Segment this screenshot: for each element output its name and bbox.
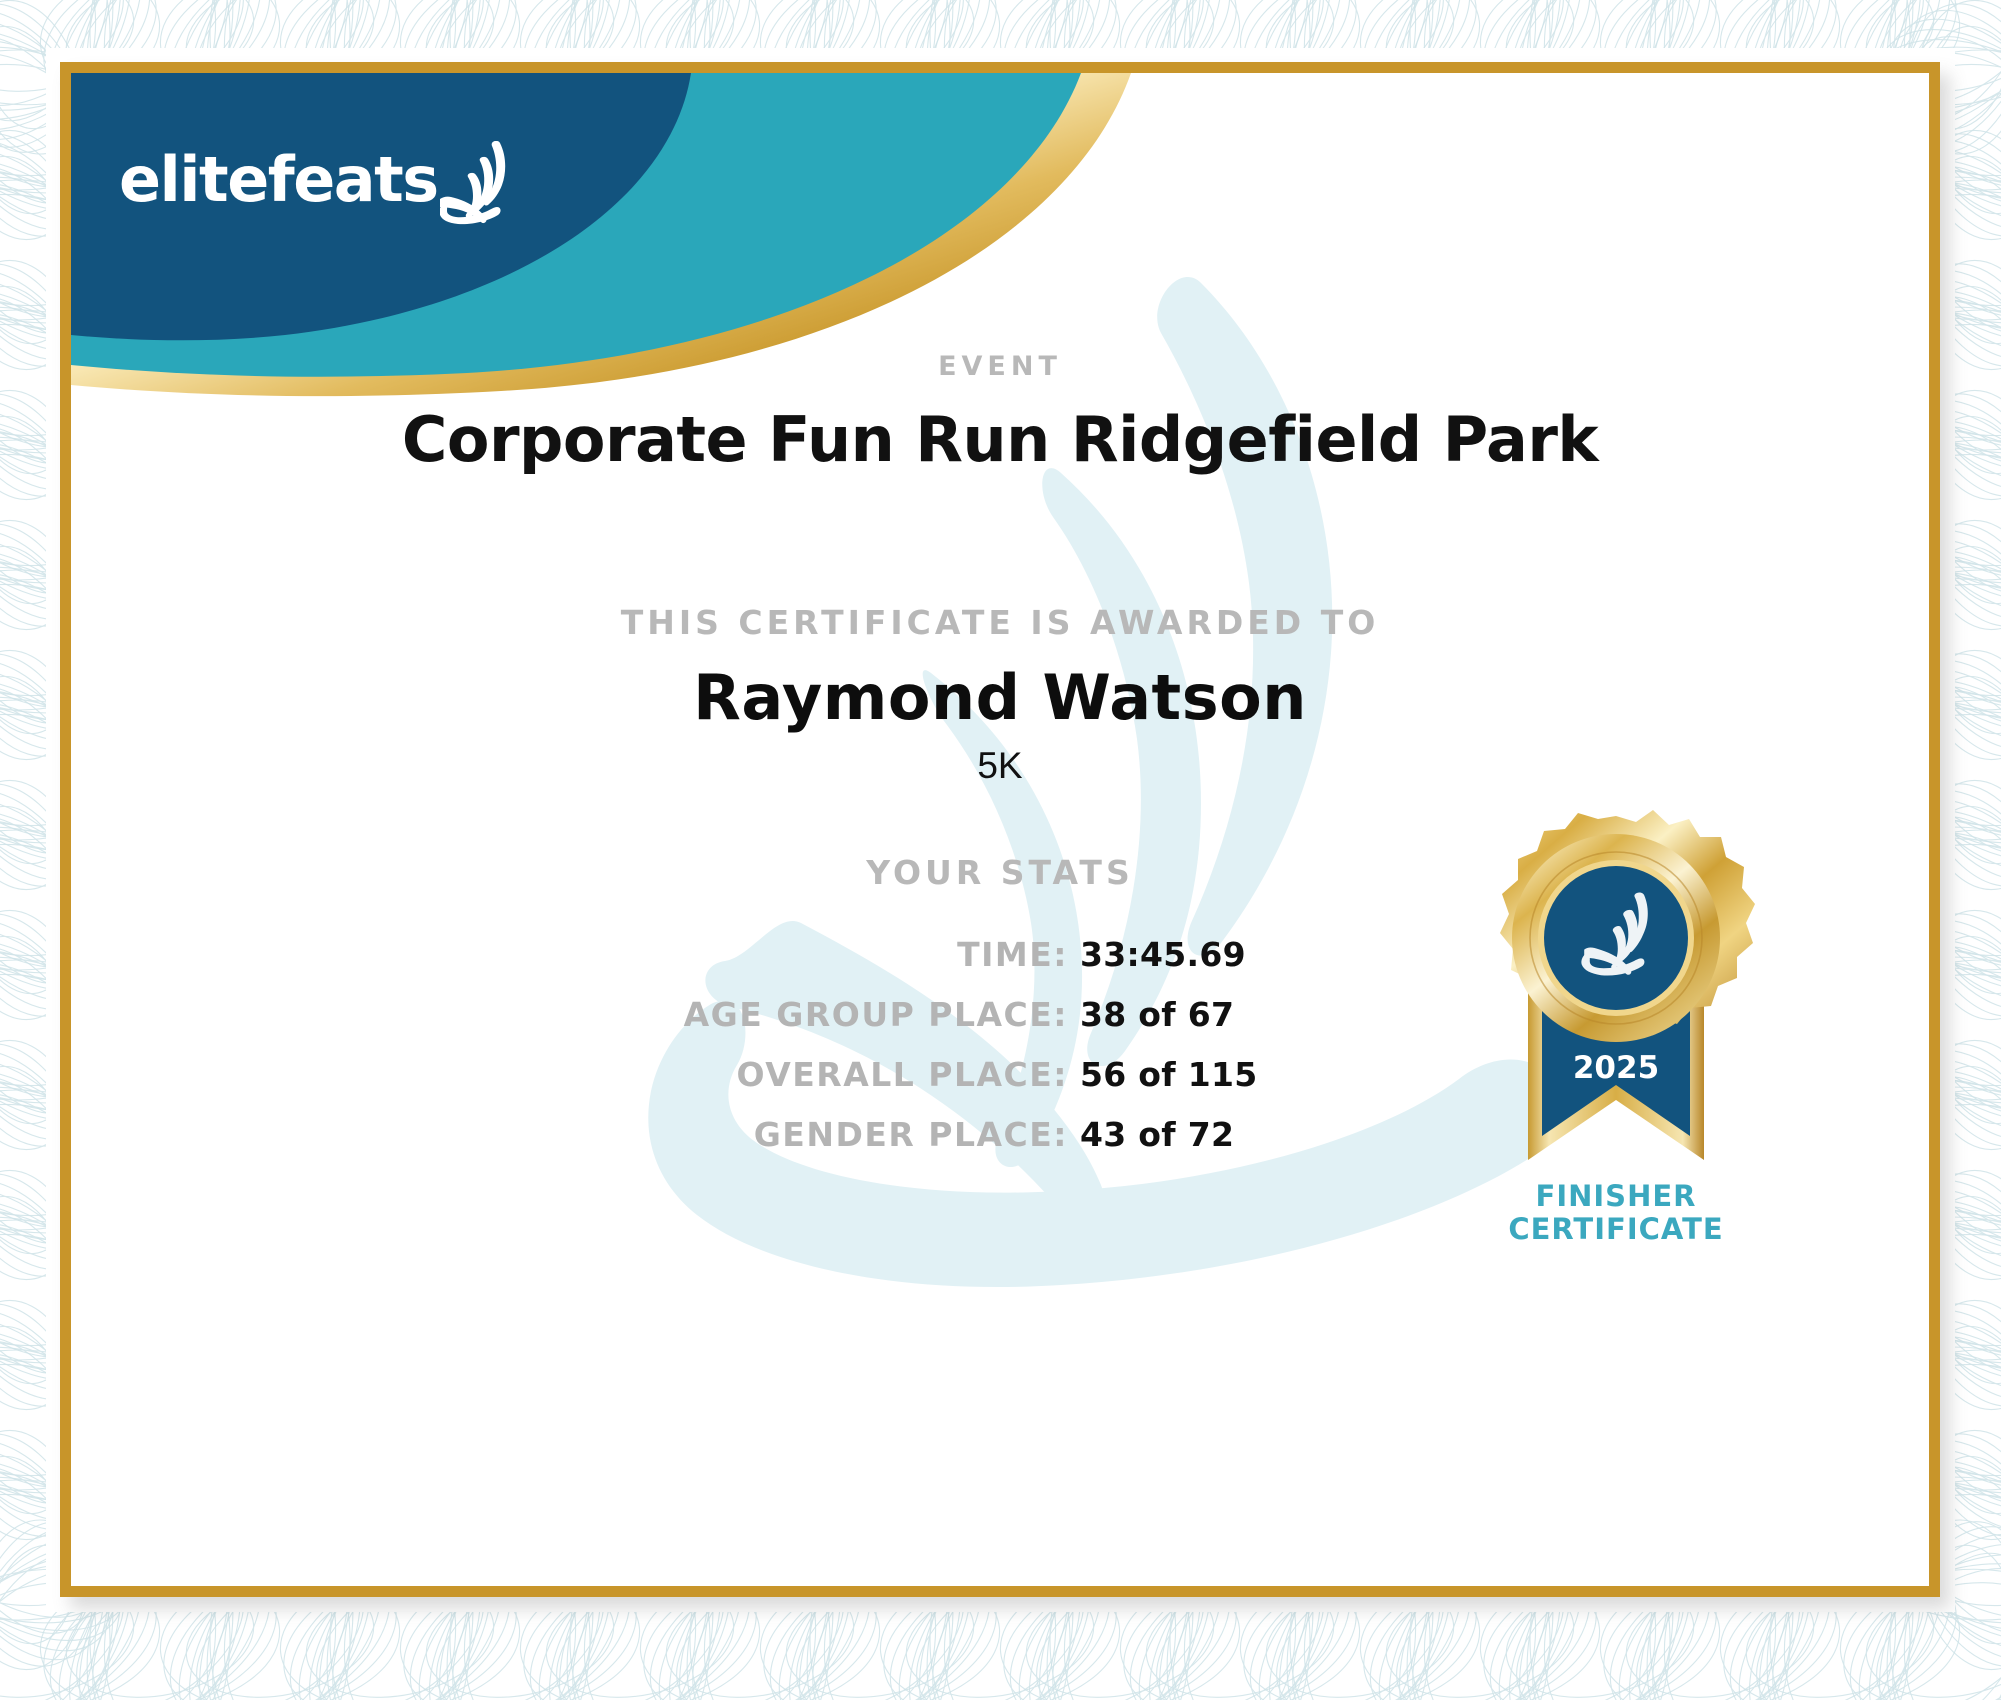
awarded-to-label: THIS CERTIFICATE IS AWARDED TO xyxy=(71,603,1929,642)
stat-value: 56 of 115 xyxy=(1080,1055,1440,1094)
stat-value: 43 of 72 xyxy=(1080,1115,1440,1154)
medal-caption-line2: CERTIFICATE xyxy=(1466,1213,1766,1246)
stat-row-gender-place: GENDER PLACE: 43 of 72 xyxy=(560,1115,1440,1154)
stat-row-time: TIME: 33:45.69 xyxy=(560,935,1440,974)
recipient-name: Raymond Watson xyxy=(71,661,1929,734)
logo-wordmark: elitefeats xyxy=(119,149,438,211)
elitefeats-logo: elitefeats xyxy=(119,135,512,225)
stat-label: GENDER PLACE: xyxy=(560,1115,1080,1154)
stat-label: OVERALL PLACE: xyxy=(560,1055,1080,1094)
stat-row-age-group-place: AGE GROUP PLACE: 38 of 67 xyxy=(560,995,1440,1034)
finisher-medal-seal: 2025 FINISHER CERTIFICATE xyxy=(1466,788,1766,1268)
medal-caption: FINISHER CERTIFICATE xyxy=(1466,1180,1766,1247)
stat-label: TIME: xyxy=(560,935,1080,974)
certificate-page: elitefeats EVENT Corporate Fun Run Ridge… xyxy=(0,0,2001,1700)
certificate-frame: elitefeats EVENT Corporate Fun Run Ridge… xyxy=(60,62,1940,1597)
stat-value: 38 of 67 xyxy=(1080,995,1440,1034)
medal-caption-line1: FINISHER xyxy=(1466,1180,1766,1213)
medal-year: 2025 xyxy=(1573,1050,1659,1086)
medal-graphic: 2025 xyxy=(1466,788,1766,1188)
certificate-body: elitefeats EVENT Corporate Fun Run Ridge… xyxy=(71,73,1929,1586)
event-label: EVENT xyxy=(71,351,1929,382)
stat-row-overall-place: OVERALL PLACE: 56 of 115 xyxy=(560,1055,1440,1094)
race-distance: 5K xyxy=(71,745,1929,787)
stat-value: 33:45.69 xyxy=(1080,935,1440,974)
event-title: Corporate Fun Run Ridgefield Park xyxy=(71,403,1929,476)
winged-foot-icon xyxy=(440,141,512,225)
stat-label: AGE GROUP PLACE: xyxy=(560,995,1080,1034)
